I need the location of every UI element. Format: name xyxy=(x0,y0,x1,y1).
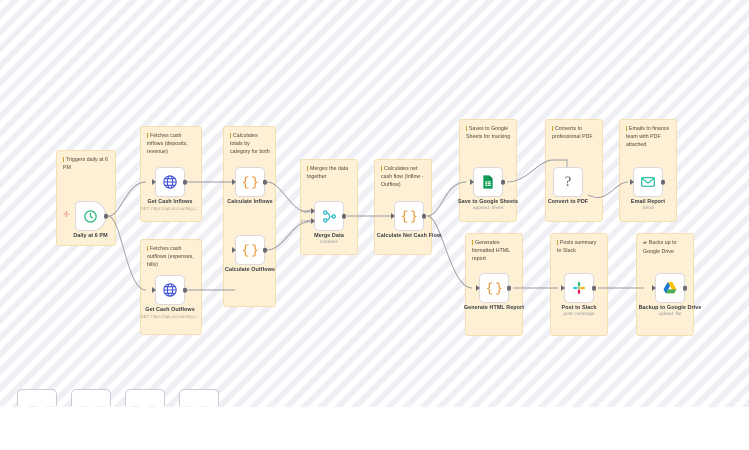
input-port[interactable] xyxy=(152,179,156,185)
output-port[interactable] xyxy=(501,180,506,185)
group-note-merge: Merges the data together xyxy=(307,165,352,181)
add-node-plus-icon[interactable]: ✛ xyxy=(63,211,70,219)
node-calculate-net-cash-flow[interactable]: { } Calculate Net Cash Flow xyxy=(394,201,424,231)
node-calculate-outflows[interactable]: { } Calculate Outflows xyxy=(235,235,265,265)
input-port[interactable] xyxy=(232,179,236,185)
code-braces-icon: { } xyxy=(486,282,503,295)
group-calculate-totals[interactable]: Calculates totals by category for both xyxy=(223,126,276,307)
node-title-merge-data: Merge Data xyxy=(314,233,344,239)
node-box-backup-to-google-drive[interactable] xyxy=(655,273,685,303)
node-title-generate-html-report: Generate HTML Report xyxy=(464,305,524,311)
node-generate-html-report[interactable]: { } Generate HTML Report xyxy=(479,273,509,303)
input-port-1[interactable] xyxy=(311,208,315,214)
envelope-icon xyxy=(640,174,656,190)
node-convert-to-pdf[interactable]: ? Convert to PDF xyxy=(553,167,583,197)
group-note-inflows-fetch: Fetches cash inflows (deposits, revenue) xyxy=(147,132,196,156)
node-calculate-inflows[interactable]: { } Calculate Inflows xyxy=(235,167,265,197)
toolbar-button-2[interactable] xyxy=(71,389,111,406)
output-port[interactable] xyxy=(263,248,268,253)
group-note-google-sheets: Saves to Google Sheets for tracking xyxy=(466,125,511,141)
node-get-cash-inflows[interactable]: Get Cash Inflows GET: https://api.accoun… xyxy=(155,167,185,197)
output-port[interactable] xyxy=(183,180,188,185)
note-bar-icon xyxy=(626,126,627,131)
node-subtitle-email-report: Send xyxy=(642,206,653,211)
node-title-schedule-trigger: Daily at 6 PM xyxy=(73,233,107,239)
code-braces-icon: { } xyxy=(242,176,259,189)
node-box-generate-html-report[interactable]: { } xyxy=(479,273,509,303)
group-note-drive: ▰Backs up to Google Drive xyxy=(643,239,688,256)
node-box-calculate-outflows[interactable]: { } xyxy=(235,235,265,265)
node-title-post-to-slack: Post to Slack xyxy=(562,305,597,311)
node-box-save-to-google-sheets[interactable] xyxy=(473,167,503,197)
node-box-get-cash-inflows[interactable] xyxy=(155,167,185,197)
node-subtitle-post-to-slack: post: message xyxy=(563,312,594,317)
output-port[interactable] xyxy=(342,214,347,219)
note-bar-icon xyxy=(466,126,467,131)
node-schedule-trigger[interactable]: ✛ Daily at 6 PM xyxy=(75,201,106,231)
group-note-net-cash-flow: Calculates net cash flow (Inflow - Outfl… xyxy=(381,165,426,189)
question-mark-icon: ? xyxy=(565,175,572,190)
workflow-canvas[interactable]: Triggers daily at 6 PM Fetches cash infl… xyxy=(0,0,749,450)
group-note-html-report: Generates formatted HTML report xyxy=(472,239,517,263)
node-title-email-report: Email Report xyxy=(631,199,665,205)
node-title-save-to-google-sheets: Save to Google Sheets xyxy=(458,199,518,205)
node-backup-to-google-drive[interactable]: Backup to Google Drive upload: file xyxy=(655,273,685,303)
output-port[interactable] xyxy=(507,286,512,291)
toolbar-button-4[interactable] xyxy=(179,389,219,406)
group-note-outflows-fetch: Fetches cash outflows (expenses, bills) xyxy=(147,245,196,269)
code-braces-icon: { } xyxy=(401,210,418,223)
input-port[interactable] xyxy=(476,285,480,291)
globe-icon xyxy=(162,174,178,190)
output-port[interactable] xyxy=(422,214,427,219)
node-subtitle-backup-to-google-drive: upload: file xyxy=(658,312,681,317)
node-box-email-report[interactable] xyxy=(633,167,663,197)
output-port[interactable] xyxy=(263,180,268,185)
node-subtitle-save-to-google-sheets: append: sheet xyxy=(473,206,503,211)
bottom-white-strip xyxy=(0,407,749,450)
group-note-slack: Posts summary to Slack xyxy=(557,239,602,255)
input-port[interactable] xyxy=(470,179,474,185)
group-note-calculate-totals: Calculates totals by category for both xyxy=(230,132,270,156)
output-port[interactable] xyxy=(592,286,597,291)
note-bar-icon xyxy=(381,166,382,171)
input-port[interactable] xyxy=(391,213,395,219)
note-bar-icon xyxy=(472,240,473,245)
input-port[interactable] xyxy=(152,287,156,293)
node-title-calculate-outflows: Calculate Outflows xyxy=(225,267,275,273)
node-subtitle-get-cash-inflows: GET: https://api.accounting.c... xyxy=(140,206,200,211)
node-title-convert-to-pdf: Convert to PDF xyxy=(548,199,588,205)
node-title-calculate-net-cash-flow: Calculate Net Cash Flow xyxy=(377,233,441,239)
note-bar-icon xyxy=(552,126,553,131)
node-title-backup-to-google-drive: Backup to Google Drive xyxy=(639,305,702,311)
toolbar-button-1[interactable] xyxy=(17,389,57,406)
clock-icon xyxy=(83,209,98,224)
note-bar-icon xyxy=(147,133,148,138)
output-port[interactable] xyxy=(104,214,109,219)
merge-icon xyxy=(321,208,338,225)
group-note-trigger: Triggers daily at 6 PM xyxy=(63,156,110,172)
node-box-calculate-inflows[interactable]: { } xyxy=(235,167,265,197)
node-email-report[interactable]: Email Report Send xyxy=(633,167,663,197)
google-sheets-icon xyxy=(480,174,496,190)
output-port[interactable] xyxy=(661,180,666,185)
input-port-2[interactable] xyxy=(311,218,315,224)
note-bar-icon xyxy=(557,240,558,245)
node-box-post-to-slack[interactable] xyxy=(564,273,594,303)
node-merge-data[interactable]: Input 1 Input 2 Merge Data combine xyxy=(314,201,344,231)
group-trigger[interactable]: Triggers daily at 6 PM xyxy=(56,150,116,246)
google-drive-icon xyxy=(662,280,678,296)
node-box-calculate-net-cash-flow[interactable]: { } xyxy=(394,201,424,231)
globe-icon xyxy=(162,282,178,298)
node-box-get-cash-outflows[interactable] xyxy=(155,275,185,305)
node-box-convert-to-pdf[interactable]: ? xyxy=(553,167,583,197)
input-port[interactable] xyxy=(652,285,656,291)
group-note-pdf: Converts to professional PDF xyxy=(552,125,597,141)
group-note-email: Emails to finance team with PDF attached xyxy=(626,125,671,149)
node-save-to-google-sheets[interactable]: Save to Google Sheets append: sheet xyxy=(473,167,503,197)
node-subtitle-get-cash-outflows: GET: https://api.accounting.c... xyxy=(140,314,200,319)
input-port[interactable] xyxy=(630,179,634,185)
node-get-cash-outflows[interactable]: Get Cash Outflows GET: https://api.accou… xyxy=(155,275,185,305)
node-title-get-cash-inflows: Get Cash Inflows xyxy=(147,199,192,205)
note-bar-icon xyxy=(230,133,231,138)
node-subtitle-merge-data: combine xyxy=(320,240,338,245)
node-title-get-cash-outflows: Get Cash Outflows xyxy=(145,307,195,313)
note-bar-icon xyxy=(147,246,148,251)
output-port[interactable] xyxy=(683,286,688,291)
input-port[interactable] xyxy=(232,247,236,253)
slack-icon xyxy=(571,280,587,296)
note-arrow-icon: ▰ xyxy=(643,240,647,248)
input-port[interactable] xyxy=(561,285,565,291)
note-bar-icon xyxy=(307,166,308,171)
note-bar-icon xyxy=(63,157,64,162)
output-port[interactable] xyxy=(183,288,188,293)
node-box-schedule-trigger[interactable] xyxy=(75,201,106,231)
code-braces-icon: { } xyxy=(242,244,259,257)
node-box-merge-data[interactable]: Input 1 Input 2 xyxy=(314,201,344,231)
node-title-calculate-inflows: Calculate Inflows xyxy=(227,199,272,205)
toolbar-button-3[interactable] xyxy=(125,389,165,406)
node-post-to-slack[interactable]: Post to Slack post: message xyxy=(564,273,594,303)
